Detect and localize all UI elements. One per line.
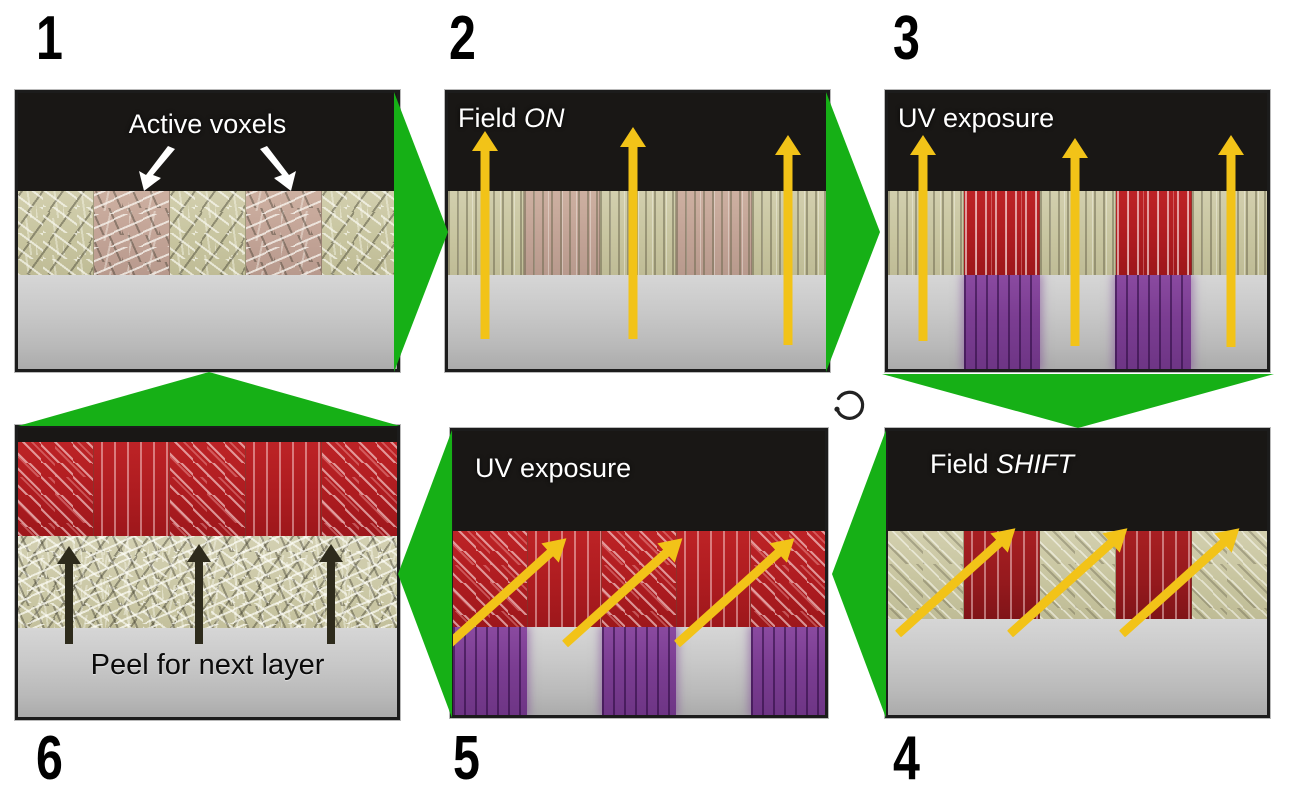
step-number-5: 5 bbox=[453, 728, 479, 790]
uv-beam-5 bbox=[751, 627, 825, 715]
connector-step-4-to-5-icon bbox=[830, 430, 888, 718]
repeat-loop-icon bbox=[828, 384, 872, 428]
voxel-5-cured bbox=[322, 442, 397, 536]
fibre-texture bbox=[94, 191, 170, 275]
connector-step-6-to-1-icon bbox=[18, 372, 400, 428]
panel-caption-6: Peel for next layer bbox=[18, 650, 397, 680]
active-voxel-pointer-left bbox=[131, 145, 185, 195]
field-arrow-1 bbox=[472, 131, 498, 339]
step-number-6: 6 bbox=[36, 728, 62, 790]
resin-band bbox=[18, 191, 397, 275]
step-number-1: 1 bbox=[36, 8, 62, 70]
step-panel-5[interactable]: UV exposure bbox=[450, 428, 828, 718]
connector-step-1-to-2-icon bbox=[392, 92, 450, 372]
connector-step-5-to-6-icon bbox=[396, 430, 454, 718]
uv-arrow-2 bbox=[1062, 138, 1088, 346]
substrate-band bbox=[18, 275, 397, 369]
headspace-band bbox=[18, 428, 397, 442]
step-panel-4[interactable]: Field SHIFT bbox=[885, 428, 1270, 718]
cured-layer-band bbox=[18, 442, 397, 536]
substrate-band bbox=[453, 627, 825, 715]
voxel-4-cured bbox=[246, 442, 322, 536]
fibre-texture bbox=[322, 191, 397, 275]
step-panel-3[interactable]: UV exposure bbox=[885, 90, 1270, 372]
fibre-texture bbox=[246, 191, 322, 275]
panel-caption-5: UV exposure bbox=[475, 453, 631, 483]
voxel-row bbox=[18, 191, 397, 275]
voxel-2 bbox=[94, 191, 170, 275]
step-number-2: 2 bbox=[449, 8, 475, 70]
connector-step-2-to-3-icon bbox=[824, 92, 882, 372]
voxel-1-cured bbox=[18, 442, 94, 536]
voxel-1 bbox=[18, 191, 94, 275]
fibre-texture bbox=[1116, 191, 1192, 275]
step-number-4: 4 bbox=[893, 728, 919, 790]
voxel-row bbox=[18, 442, 397, 536]
fibre-texture bbox=[676, 191, 752, 275]
step-panel-2[interactable]: Field ON bbox=[445, 90, 830, 372]
voxel-2-cured bbox=[94, 442, 170, 536]
uv-beam-3 bbox=[602, 627, 676, 715]
peel-arrow-3 bbox=[318, 544, 344, 644]
fibre-texture bbox=[170, 191, 246, 275]
active-voxel-pointer-right bbox=[250, 145, 304, 195]
panel-caption-1: Active voxels bbox=[18, 109, 397, 139]
voxel-3 bbox=[170, 191, 246, 275]
substrate-band bbox=[888, 619, 1267, 715]
fibre-texture bbox=[322, 442, 397, 536]
step-number-3: 3 bbox=[893, 8, 919, 70]
uv-arrow-1 bbox=[910, 135, 936, 341]
uv-beam-row bbox=[453, 627, 825, 715]
fibre-texture bbox=[94, 442, 170, 536]
fibre-texture bbox=[964, 191, 1040, 275]
peel-arrow-1 bbox=[56, 546, 82, 644]
uv-beam-2 bbox=[964, 275, 1040, 369]
field-arrow-2 bbox=[620, 127, 646, 339]
voxel-4 bbox=[676, 191, 752, 275]
fibre-texture bbox=[246, 442, 322, 536]
voxel-2-cured bbox=[964, 191, 1040, 275]
fibre-texture bbox=[524, 191, 600, 275]
fibre-texture bbox=[170, 442, 246, 536]
step-panel-1[interactable]: Active voxels bbox=[15, 90, 400, 372]
headspace-band bbox=[888, 431, 1267, 531]
panel-caption-3: UV exposure bbox=[898, 103, 1054, 133]
voxel-4 bbox=[246, 191, 322, 275]
field-arrow-3 bbox=[775, 135, 801, 345]
voxel-2 bbox=[524, 191, 600, 275]
panel-caption-4: Field SHIFT bbox=[930, 449, 1074, 479]
panel-caption-2: Field ON bbox=[458, 103, 565, 133]
step-panel-6[interactable]: Peel for next layer bbox=[15, 425, 400, 720]
headspace-band bbox=[18, 93, 397, 191]
fibre-texture bbox=[18, 442, 94, 536]
voxel-4-cured bbox=[1116, 191, 1192, 275]
fibre-texture bbox=[18, 191, 94, 275]
peel-arrow-2 bbox=[186, 544, 212, 644]
connector-step-3-to-4-icon bbox=[882, 372, 1274, 430]
voxel-3-cured bbox=[170, 442, 246, 536]
uv-arrow-3 bbox=[1218, 135, 1244, 347]
voxel-5 bbox=[322, 191, 397, 275]
uv-beam-4 bbox=[1115, 275, 1191, 369]
